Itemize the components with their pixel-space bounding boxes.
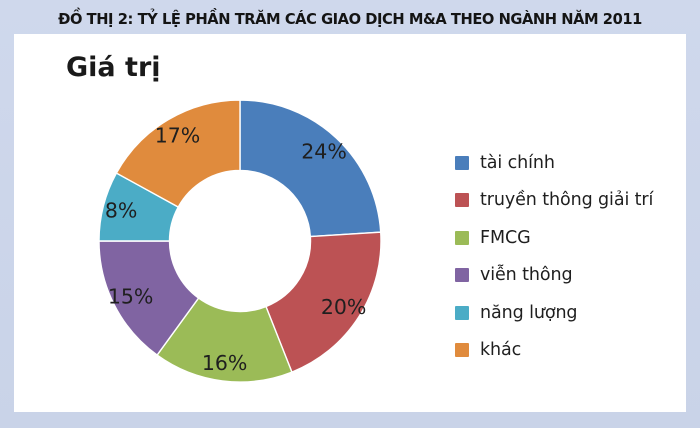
legend-item-label: khác bbox=[480, 340, 521, 360]
legend-item[interactable]: truyền thông giải trí bbox=[455, 182, 680, 220]
page-title: ĐỒ THỊ 2: TỶ LỆ PHẦN TRĂM CÁC GIAO DỊCH … bbox=[12, 6, 688, 32]
legend-item-label: viễn thông bbox=[480, 265, 573, 285]
legend-color-swatch bbox=[455, 231, 469, 245]
legend-item[interactable]: FMCG bbox=[455, 219, 680, 257]
legend-color-swatch bbox=[455, 343, 469, 357]
legend-item-label: truyền thông giải trí bbox=[480, 190, 653, 210]
donut-slice-label: 16% bbox=[202, 351, 248, 375]
chart-title: Giá trị bbox=[66, 52, 161, 83]
legend-item-label: năng lượng bbox=[480, 303, 577, 323]
legend-item-label: FMCG bbox=[480, 228, 531, 248]
legend-color-swatch bbox=[455, 193, 469, 207]
legend-color-swatch bbox=[455, 156, 469, 170]
legend-item[interactable]: năng lượng bbox=[455, 294, 680, 332]
donut-chart: 24%20%16%15%8%17% bbox=[95, 96, 385, 386]
donut-slice-label: 24% bbox=[301, 140, 347, 164]
page-frame: ĐỒ THỊ 2: TỶ LỆ PHẦN TRĂM CÁC GIAO DỊCH … bbox=[0, 0, 700, 428]
chart-card: Giá trị 24%20%16%15%8%17% tài chínhtruyề… bbox=[14, 34, 686, 412]
legend-item[interactable]: khác bbox=[455, 332, 680, 370]
donut-slice-label: 17% bbox=[155, 123, 201, 147]
legend-color-swatch bbox=[455, 268, 469, 282]
donut-slice-label: 8% bbox=[105, 198, 138, 222]
donut-slice[interactable] bbox=[240, 100, 381, 237]
chart-legend: tài chínhtruyền thông giải tríFMCGviễn t… bbox=[455, 144, 680, 369]
legend-item[interactable]: viễn thông bbox=[455, 257, 680, 295]
donut-chart-svg: 24%20%16%15%8%17% bbox=[95, 96, 385, 386]
legend-item-label: tài chính bbox=[480, 153, 555, 173]
donut-slice-label: 20% bbox=[321, 295, 367, 319]
legend-item[interactable]: tài chính bbox=[455, 144, 680, 182]
legend-color-swatch bbox=[455, 306, 469, 320]
donut-slice-label: 15% bbox=[108, 285, 154, 309]
